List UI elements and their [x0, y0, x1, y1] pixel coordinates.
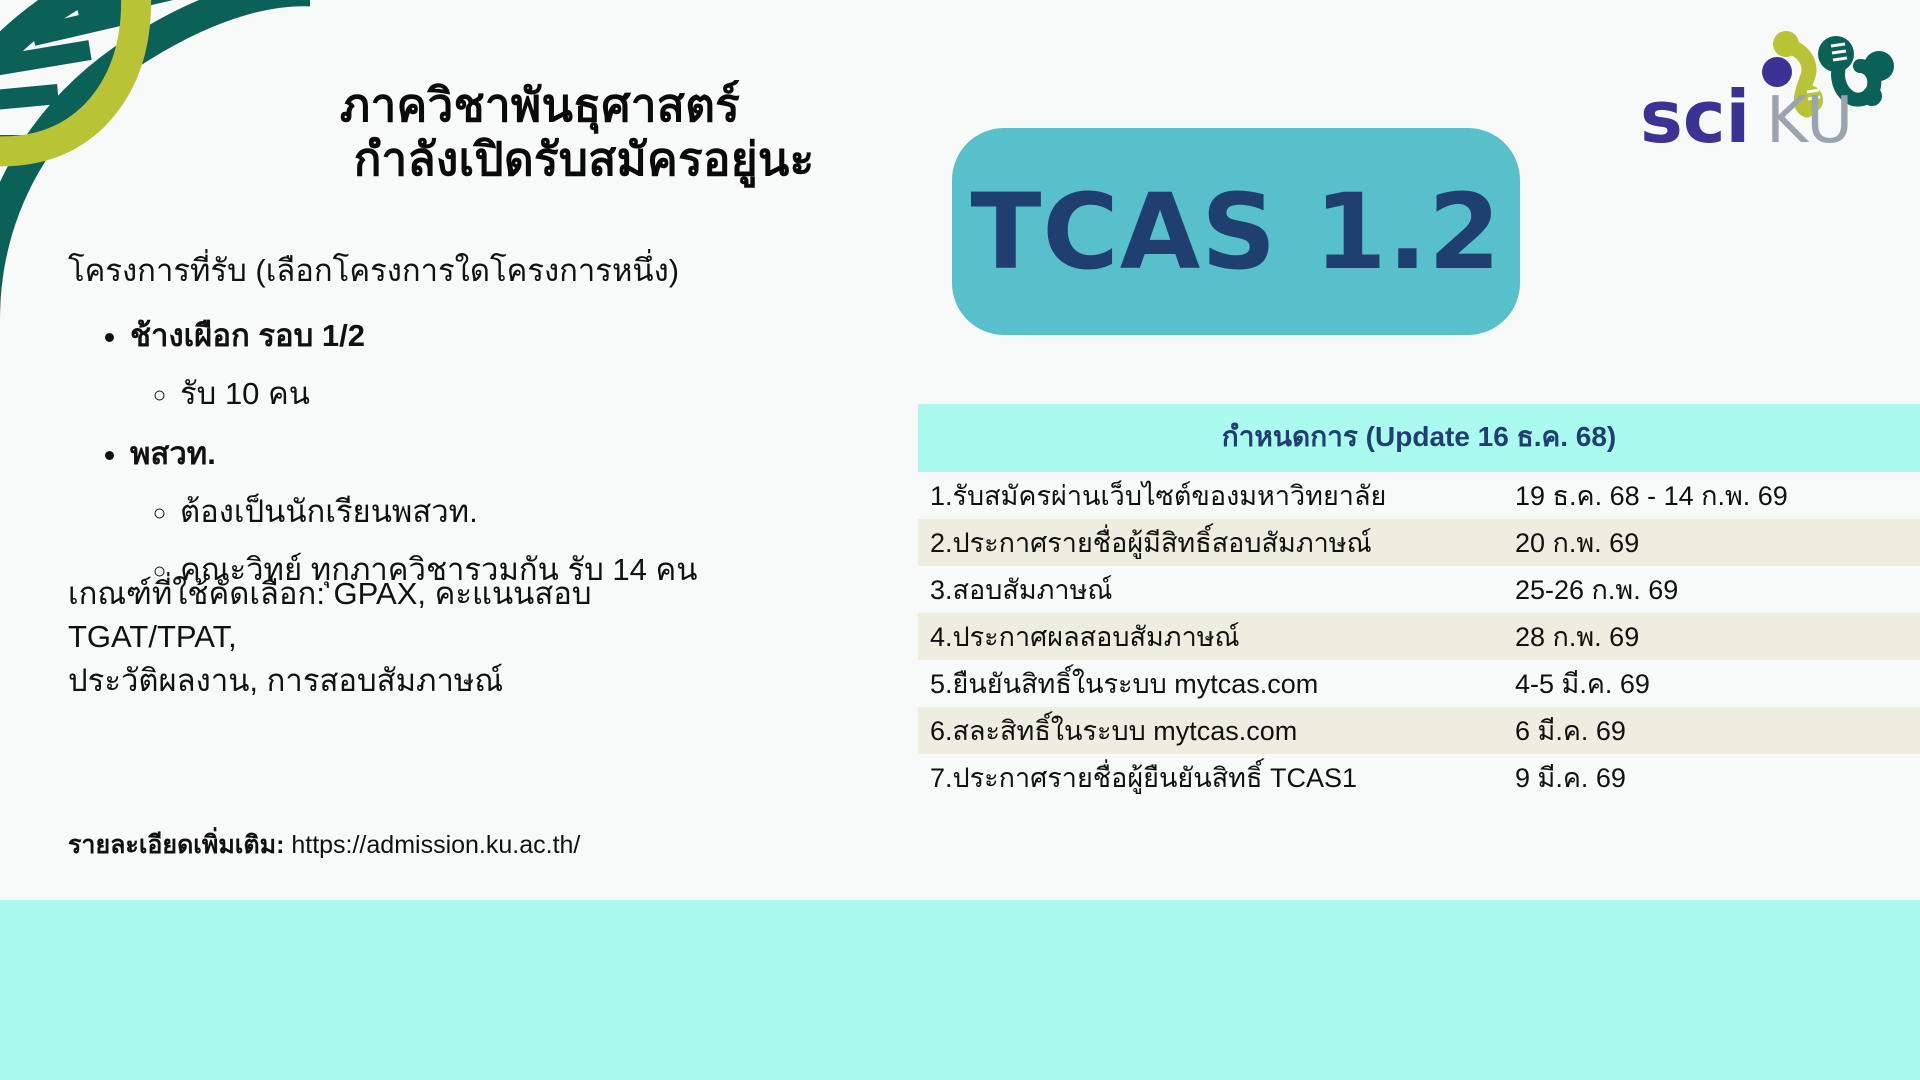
title-line-1: ภาควิชาพันธุศาสตร์	[180, 78, 900, 132]
list-item: รับ 10 คน	[180, 368, 868, 418]
schedule-date: 9 มี.ค. 69	[1515, 756, 1920, 799]
schedule-item: 3.สอบสัมภาษณ์	[930, 568, 1515, 611]
page-title: ภาควิชาพันธุศาสตร์ กำลังเปิดรับสมัครอยู่…	[180, 78, 900, 187]
list-item: ช้างเผือก รอบ 1/2 รับ 10 คน	[130, 310, 868, 418]
more-info: รายละเอียดเพิ่มเติม: https://admission.k…	[68, 825, 828, 865]
schedule-item: 2.ประกาศรายชื่อผู้มีสิทธิ์สอบสัมภาษณ์	[930, 521, 1515, 564]
selection-criteria: เกณฑ์ที่ใช้คัดเลือก: GPAX, คะแนนสอบ TGAT…	[68, 572, 688, 702]
schedule-item: 7.ประกาศรายชื่อผู้ยืนยันสิทธิ์ TCAS1	[930, 756, 1515, 799]
schedule-date: 20 ก.พ. 69	[1515, 521, 1920, 564]
poster-slide: sci KU ภาควิชาพันธุศาสตร์ กำลังเปิดรับสม…	[0, 0, 1920, 1080]
admission-url-link[interactable]: https://admission.ku.ac.th/	[291, 831, 580, 859]
table-row: 1.รับสมัครผ่านเว็บไซต์ของมหาวิทยาลัย 19 …	[918, 472, 1920, 519]
table-row: 4.ประกาศผลสอบสัมภาษณ์ 28 ก.พ. 69	[918, 613, 1920, 660]
schedule-table: กำหนดการ (Update 16 ธ.ค. 68) 1.รับสมัครผ…	[918, 404, 1920, 801]
criteria-line-2: ประวัติผลงาน, การสอบสัมภาษณ์	[68, 659, 688, 702]
table-row: 7.ประกาศรายชื่อผู้ยืนยันสิทธิ์ TCAS1 9 ม…	[918, 754, 1920, 801]
list-item: ต้องเป็นนักเรียนพสวท.	[180, 486, 868, 536]
table-row: 3.สอบสัมภาษณ์ 25-26 ก.พ. 69	[918, 566, 1920, 613]
schedule-date: 28 ก.พ. 69	[1515, 615, 1920, 658]
schedule-item: 4.ประกาศผลสอบสัมภาษณ์	[930, 615, 1515, 658]
programs-list: ช้างเผือก รอบ 1/2 รับ 10 คน พสวท. ต้องเป…	[68, 300, 868, 604]
tcas-badge-label: TCAS 1.2	[970, 171, 1501, 293]
logo-word-sci: sci	[1640, 75, 1750, 154]
schedule-item: 6.สละสิทธิ์ในระบบ mytcas.com	[930, 709, 1515, 752]
table-row: 6.สละสิทธิ์ในระบบ mytcas.com 6 มี.ค. 69	[918, 707, 1920, 754]
schedule-item: 5.ยืนยันสิทธิ์ในระบบ mytcas.com	[930, 662, 1515, 705]
schedule-date: 6 มี.ค. 69	[1515, 709, 1920, 752]
bottom-accent-band	[0, 900, 1920, 1080]
criteria-line-1: เกณฑ์ที่ใช้คัดเลือก: GPAX, คะแนนสอบ TGAT…	[68, 572, 688, 659]
sci-ku-logo: sci KU	[1636, 14, 1898, 154]
title-line-2: กำลังเปิดรับสมัครอยู่นะ	[268, 132, 900, 186]
program-label: พสวท.	[130, 436, 216, 471]
table-row: 2.ประกาศรายชื่อผู้มีสิทธิ์สอบสัมภาษณ์ 20…	[918, 519, 1920, 566]
schedule-date: 19 ธ.ค. 68 - 14 ก.พ. 69	[1515, 474, 1920, 517]
schedule-date: 25-26 ก.พ. 69	[1515, 568, 1920, 611]
schedule-date: 4-5 มี.ค. 69	[1515, 662, 1920, 705]
logo-dot-purple	[1762, 57, 1792, 87]
schedule-header: กำหนดการ (Update 16 ธ.ค. 68)	[918, 404, 1920, 472]
list-item: พสวท. ต้องเป็นนักเรียนพสวท. คณะวิทย์ ทุก…	[130, 428, 868, 594]
programs-lead-text: โครงการที่รับ (เลือกโครงการใดโครงการหนึ่…	[68, 250, 828, 292]
program-label: ช้างเผือก รอบ 1/2	[130, 318, 365, 353]
table-row: 5.ยืนยันสิทธิ์ในระบบ mytcas.com 4-5 มี.ค…	[918, 660, 1920, 707]
tcas-round-badge: TCAS 1.2	[952, 128, 1520, 335]
more-info-label: รายละเอียดเพิ่มเติม:	[68, 831, 291, 859]
schedule-item: 1.รับสมัครผ่านเว็บไซต์ของมหาวิทยาลัย	[930, 474, 1515, 517]
logo-word-ku: KU	[1766, 84, 1853, 154]
